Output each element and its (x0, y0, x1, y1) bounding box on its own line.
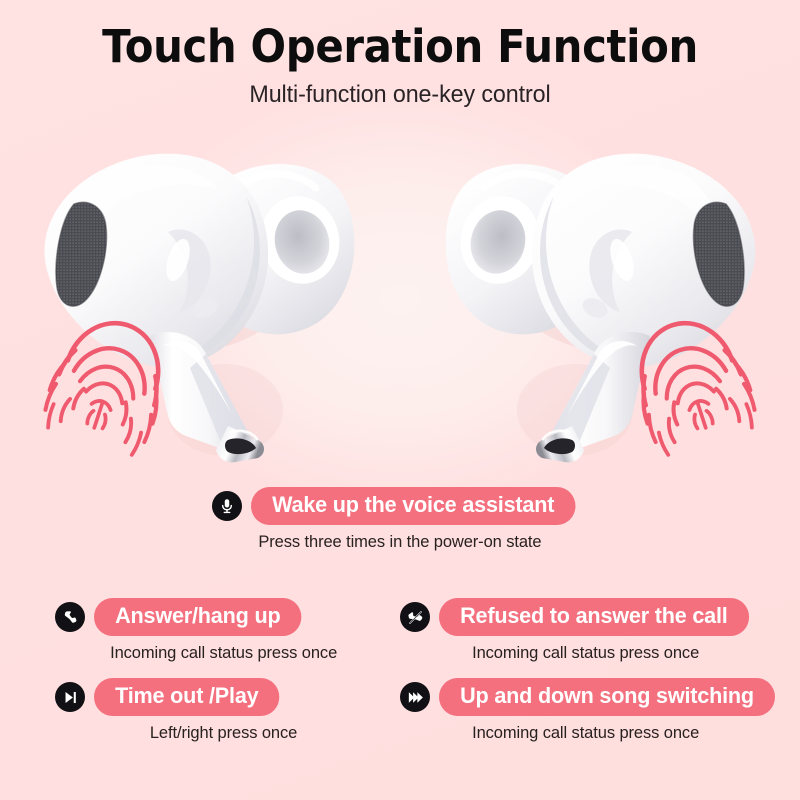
microphone-icon (212, 491, 242, 521)
page-title: Touch Operation Function (28, 0, 772, 71)
page-subtitle: Multi-function one-key control (20, 71, 780, 109)
feature-voice-assistant[interactable]: Wake up the voice assistant Press three … (0, 487, 800, 552)
play-pause-icon (55, 682, 85, 712)
feature-label[interactable]: Up and down song switching (439, 678, 775, 716)
phone-decline-icon (400, 602, 430, 632)
phone-handset-icon (55, 602, 85, 632)
feature-answer-hang-up[interactable]: Answer/hang up Incoming call status pres… (55, 598, 365, 678)
feature-row: Time out /Play (55, 678, 287, 716)
feature-row: Refused to answer the call (400, 598, 762, 636)
feature-row: Up and down song switching (400, 678, 789, 716)
feature-label[interactable]: Time out /Play (94, 678, 280, 716)
left-earbud (39, 154, 355, 463)
feature-song-switching[interactable]: Up and down song switching Incoming call… (400, 678, 745, 758)
poster-canvas: Touch Operation Function Multi-function … (0, 0, 800, 800)
feature-label[interactable]: Refused to answer the call (439, 598, 749, 636)
header: Touch Operation Function Multi-function … (0, 0, 800, 109)
voice-assistant-caption: Press three times in the power-on state (258, 532, 541, 552)
feature-caption: Incoming call status press once (445, 643, 699, 663)
right-earbud (446, 154, 762, 463)
voice-row: Wake up the voice assistant (212, 487, 589, 525)
feature-row: Answer/hang up (55, 598, 310, 636)
feature-refuse-call[interactable]: Refused to answer the call Incoming call… (400, 598, 745, 678)
voice-assistant-label[interactable]: Wake up the voice assistant (251, 487, 575, 525)
fast-forward-icon (400, 682, 430, 712)
feature-grid: Answer/hang up Incoming call status pres… (0, 598, 800, 758)
feature-caption: Incoming call status press once (445, 723, 699, 743)
feature-timeout-play[interactable]: Time out /Play Left/right press once (55, 678, 365, 758)
earbuds-illustration (0, 140, 800, 480)
feature-label[interactable]: Answer/hang up (94, 598, 302, 636)
feature-caption: Left/right press once (123, 723, 298, 743)
feature-caption: Incoming call status press once (83, 643, 337, 663)
